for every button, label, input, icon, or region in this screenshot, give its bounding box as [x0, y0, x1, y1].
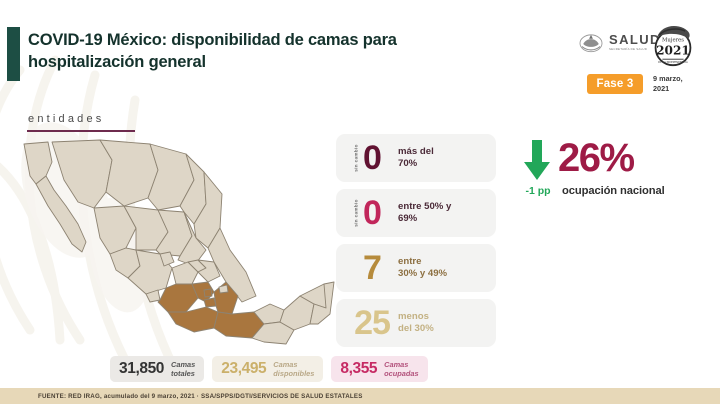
stat-card-change-label-1: sin cambio — [353, 199, 358, 227]
bed-value-camas-ocupadas: 8,355 — [340, 360, 377, 378]
svg-text:DE LA INDEPENDENCIA: DE LA INDEPENDENCIA — [658, 60, 688, 64]
stat-card-caption-1: entre 50% y 69% — [398, 201, 451, 225]
stat-card-caption-0: más del 70% — [398, 146, 434, 170]
seal-top-text: Mujeres — [662, 38, 684, 44]
state-ciudad-de-mexico — [204, 289, 212, 297]
stat-card-entre-50-69: sin cambio 0 entre 50% y 69% — [336, 189, 496, 237]
stat-card-caption-3-line2: del 30% — [398, 323, 434, 334]
report-date-line2: 2021 — [653, 84, 705, 94]
stat-card-entre-30-49: 7 entre 30% y 49% — [336, 244, 496, 292]
bed-caption-camas-disponibles-line2: disponibles — [273, 369, 314, 378]
national-occupancy-label: ocupación nacional — [562, 185, 665, 197]
eagle-emblem-icon — [578, 31, 604, 53]
stat-card-caption-3: menos del 30% — [398, 311, 434, 335]
commemorative-seal-2021-icon: Mujeres 2021 DE LA INDEPENDENCIA — [650, 22, 696, 69]
national-occupancy: 26% -1 pp ocupación nacional — [516, 138, 716, 197]
bed-box-camas-totales: 31,850 Camas totales — [110, 356, 204, 382]
stat-card-value-2: 7 — [346, 251, 398, 285]
national-occupancy-row: 26% — [516, 138, 716, 182]
mexico-map — [8, 132, 338, 354]
report-date: 9 marzo, 2021 — [653, 74, 705, 94]
occupancy-range-cards: sin cambio 0 más del 70% sin cambio 0 en… — [336, 134, 496, 354]
state-morelos — [204, 298, 216, 307]
stat-card-caption-0-line1: más del — [398, 146, 434, 157]
entidades-underline — [27, 130, 135, 132]
salud-logo: SALUD SECRETARÍA DE SALUD — [578, 31, 661, 53]
bed-caption-camas-ocupadas-line1: Camas — [384, 360, 408, 369]
stat-card-caption-1-line2: 69% — [398, 213, 417, 224]
mexico-map-svg — [8, 132, 338, 354]
state-baja-california — [24, 142, 52, 184]
bed-value-camas-disponibles: 23,495 — [221, 360, 266, 378]
bed-box-camas-disponibles: 23,495 Camas disponibles — [212, 356, 323, 382]
footer-source-text: FUENTE: RED IRAG, acumulado del 9 marzo,… — [38, 393, 363, 400]
stat-card-change-label-0: sin cambio — [353, 144, 358, 172]
bed-caption-camas-totales-line1: Camas — [171, 360, 195, 369]
bed-totals-row: 31,850 Camas totales 23,495 Camas dispon… — [110, 356, 428, 382]
national-occupancy-delta: -1 pp — [520, 185, 556, 197]
title-accent-bar — [7, 27, 20, 81]
national-occupancy-subrow: -1 pp ocupación nacional — [516, 185, 716, 197]
stat-card-caption-0-line2: 70% — [398, 158, 417, 169]
fase-badge: Fase 3 — [587, 74, 643, 94]
bed-caption-camas-ocupadas: Camas ocupadas — [384, 360, 419, 379]
state-sonora — [52, 140, 112, 208]
stat-card-caption-2-line1: entre — [398, 256, 421, 267]
state-tlaxcala — [219, 285, 228, 293]
stat-card-caption-2-line2: 30% y 49% — [398, 268, 447, 279]
bed-value-camas-totales: 31,850 — [119, 360, 164, 378]
entidades-label: entidades — [28, 113, 105, 125]
stat-card-value-3: 25 — [346, 306, 398, 340]
arrow-down-icon — [522, 138, 552, 182]
bed-caption-camas-totales: Camas totales — [171, 360, 195, 379]
stat-card-caption-1-line1: entre 50% y — [398, 201, 451, 212]
bed-caption-camas-ocupadas-line2: ocupadas — [384, 369, 419, 378]
bed-caption-camas-disponibles-line1: Camas — [273, 360, 297, 369]
stat-card-menos-del-30: 25 menos del 30% — [336, 299, 496, 347]
bed-caption-camas-totales-line2: totales — [171, 369, 195, 378]
footer-bar: FUENTE: RED IRAG, acumulado del 9 marzo,… — [0, 388, 720, 404]
report-date-line1: 9 marzo, — [653, 74, 705, 84]
stat-card-caption-2: entre 30% y 49% — [398, 256, 447, 280]
page-title: COVID-19 México: disponibilidad de camas… — [28, 30, 458, 74]
bed-caption-camas-disponibles: Camas disponibles — [273, 360, 314, 379]
national-occupancy-percent: 26% — [558, 138, 634, 178]
stat-card-mas-del-70: sin cambio 0 más del 70% — [336, 134, 496, 182]
page-header: COVID-19 México: disponibilidad de camas… — [0, 0, 720, 100]
bed-box-camas-ocupadas: 8,355 Camas ocupadas — [331, 356, 427, 382]
stat-card-caption-3-line1: menos — [398, 311, 429, 322]
seal-year-text: 2021 — [656, 44, 690, 58]
